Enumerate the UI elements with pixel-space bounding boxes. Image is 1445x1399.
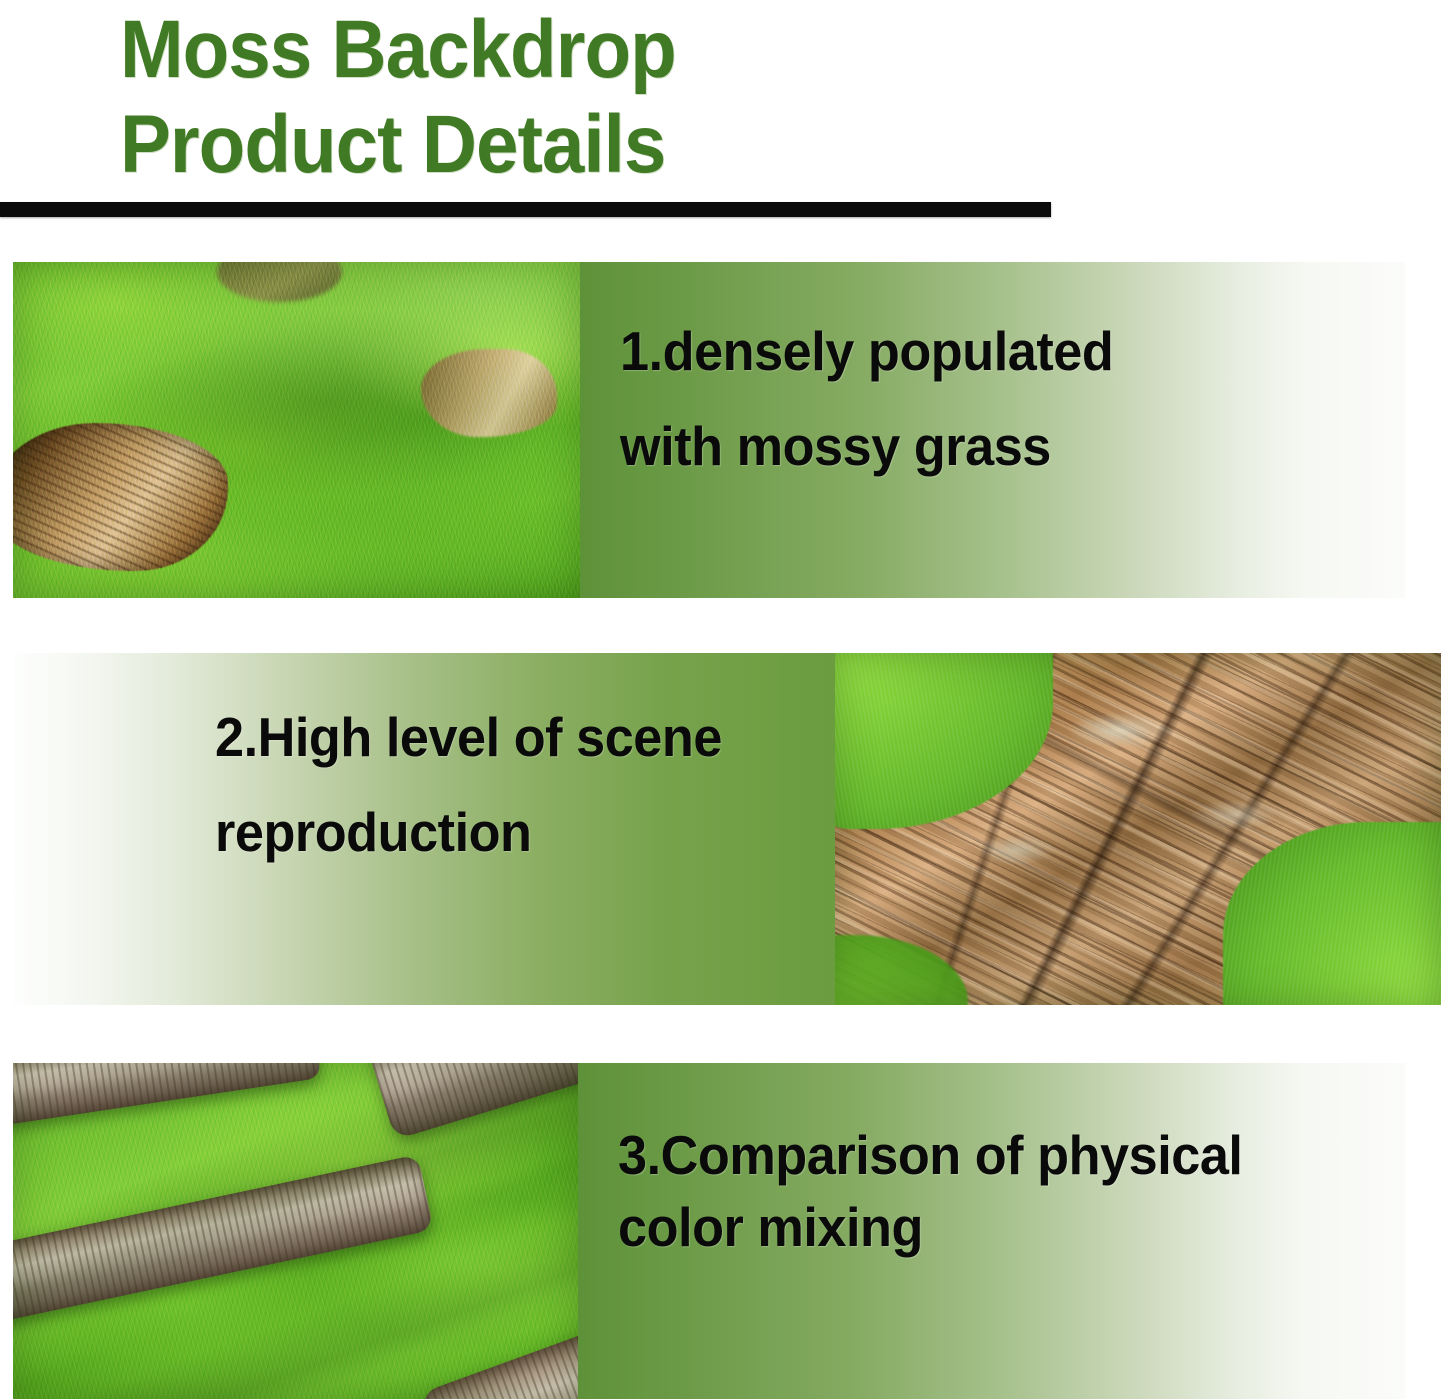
title-underline-rule [0,202,1051,217]
feature-text-1: 1.densely populated with mossy grass [620,304,1113,494]
feature-row: 1.densely populated with mossy grass [13,262,1405,598]
feature-text-3: 3.Comparison of physical color mixing [618,1119,1242,1263]
feature-row: 3.Comparison of physical color mixing [13,1063,1405,1399]
feature-text-panel-2: 2.High level of scene reproduction [13,653,835,1005]
feature-row: 2.High level of scene reproduction [13,653,1441,1005]
moss-shading-overlay [13,262,580,598]
feature-block-2: 2.High level of scene reproduction [13,653,1441,1005]
feature-image-3 [13,1063,578,1399]
page-header: Moss Backdrop Product Details [0,0,1445,218]
feature-text-2: 2.High level of scene reproduction [215,690,722,880]
feature-text-panel-3: 3.Comparison of physical color mixing [578,1063,1405,1399]
feature-block-3: 3.Comparison of physical color mixing [13,1063,1405,1399]
feature-block-1: 1.densely populated with mossy grass [13,262,1405,598]
page-title: Moss Backdrop Product Details [120,2,1143,192]
feature-image-2 [835,653,1441,1005]
feature-image-1 [13,262,580,598]
log-shadow-overlay [13,1063,578,1399]
feature-text-panel-1: 1.densely populated with mossy grass [580,262,1405,598]
